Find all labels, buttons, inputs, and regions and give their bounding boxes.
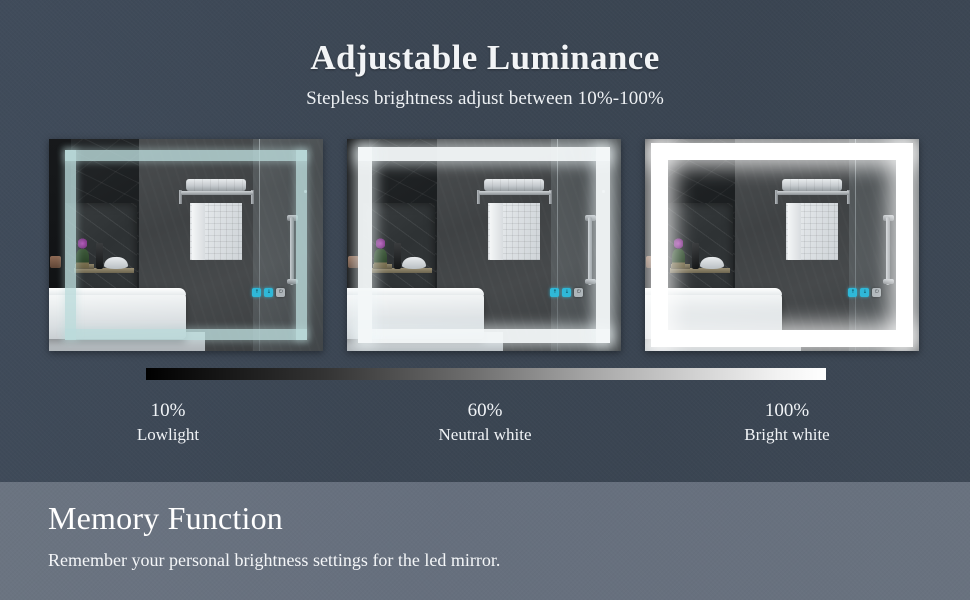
flower-decor [376, 238, 385, 249]
hanging-towel-fold [192, 203, 205, 260]
brightness-label-neutral-white: 60% Neutral white [385, 398, 585, 447]
glass-fixing-dot [304, 190, 307, 193]
niche-shelf [670, 268, 730, 273]
shower-glass-seam [557, 139, 559, 351]
toiletry-bottle [394, 243, 401, 270]
brightness-percent: 100% [687, 398, 887, 423]
shower-door-handle [588, 217, 592, 285]
shower-handle-bracket-bottom [287, 279, 298, 285]
shower-door-handle [886, 217, 890, 285]
shower-glass-seam [259, 139, 261, 351]
glass-fixing-dot [602, 190, 605, 193]
page-subtitle: Stepless brightness adjust between 10%-1… [0, 88, 970, 110]
brightness-up-button[interactable]: ↑ [252, 288, 261, 297]
rolled-towel [186, 179, 246, 191]
side-object [50, 256, 61, 269]
bathtub [49, 288, 186, 339]
brightness-percent: 10% [68, 398, 268, 423]
niche-shelf [74, 268, 134, 273]
potted-plant [374, 249, 386, 268]
potted-plant [76, 249, 88, 268]
toiletry-bottle [692, 243, 699, 270]
flower-decor [674, 238, 683, 249]
brightness-name: Lowlight [68, 423, 268, 447]
towel-rack-bar [777, 191, 850, 195]
memory-function-subtitle: Remember your personal brightness settin… [48, 550, 500, 571]
brightness-name: Neutral white [385, 423, 585, 447]
bathroom-scene: ↑ ↓ ⏻ [49, 139, 323, 351]
bathroom-scene: ↑ ↓ ⏻ [347, 139, 621, 351]
hanging-towel-fold [490, 203, 503, 260]
toiletry-bottle [96, 243, 103, 270]
glass-fixing-dot [900, 190, 903, 193]
mirror-panel-100: ↑ ↓ ⏻ [645, 139, 919, 351]
bathroom-scene: ↑ ↓ ⏻ [645, 139, 919, 351]
touch-control-panel[interactable]: ↑ ↓ ⏻ [848, 288, 881, 297]
brightness-name: Bright white [687, 423, 887, 447]
hanging-towel-fold [788, 203, 801, 260]
brightness-label-bright-white: 100% Bright white [687, 398, 887, 447]
folded-towels-bowl [402, 257, 427, 270]
touch-control-panel[interactable]: ↑ ↓ ⏻ [252, 288, 285, 297]
brightness-down-button[interactable]: ↓ [860, 288, 869, 297]
shower-handle-bracket-bottom [585, 279, 596, 285]
mirror-panel-60: ↑ ↓ ⏻ [347, 139, 621, 351]
brightness-up-button[interactable]: ↑ [848, 288, 857, 297]
shower-glass [253, 139, 323, 351]
bathtub-rim [645, 288, 782, 295]
niche-shelf [372, 268, 432, 273]
shower-handle-bracket-bottom [883, 279, 894, 285]
promo-banner: Adjustable Luminance Stepless brightness… [0, 0, 970, 600]
folded-towels-bowl [104, 257, 129, 270]
bathtub-rim [49, 288, 186, 295]
brightness-down-button[interactable]: ↓ [264, 288, 273, 297]
side-object [646, 256, 657, 269]
rolled-towel [782, 179, 842, 191]
shower-glass [849, 139, 919, 351]
brightness-label-lowlight: 10% Lowlight [68, 398, 268, 447]
shower-glass-seam [855, 139, 857, 351]
bathtub [645, 288, 782, 339]
folded-towels-bowl [700, 257, 725, 270]
shower-door-handle [290, 217, 294, 285]
touch-control-panel[interactable]: ↑ ↓ ⏻ [550, 288, 583, 297]
towel-rack-bar [181, 191, 254, 195]
mirror-panel-10: ↑ ↓ ⏻ [49, 139, 323, 351]
bathtub [347, 288, 484, 339]
brightness-gradient-bar[interactable] [146, 368, 826, 380]
power-button[interactable]: ⏻ [872, 288, 881, 297]
brightness-up-button[interactable]: ↑ [550, 288, 559, 297]
shower-glass [551, 139, 621, 351]
bathtub-rim [347, 288, 484, 295]
power-button[interactable]: ⏻ [574, 288, 583, 297]
potted-plant [672, 249, 684, 268]
flower-decor [78, 238, 87, 249]
memory-function-title: Memory Function [48, 500, 283, 537]
brightness-down-button[interactable]: ↓ [562, 288, 571, 297]
page-title: Adjustable Luminance [0, 38, 970, 78]
brightness-percent: 60% [385, 398, 585, 423]
power-button[interactable]: ⏻ [276, 288, 285, 297]
towel-rack-bar [479, 191, 552, 195]
side-object [348, 256, 359, 269]
rolled-towel [484, 179, 544, 191]
